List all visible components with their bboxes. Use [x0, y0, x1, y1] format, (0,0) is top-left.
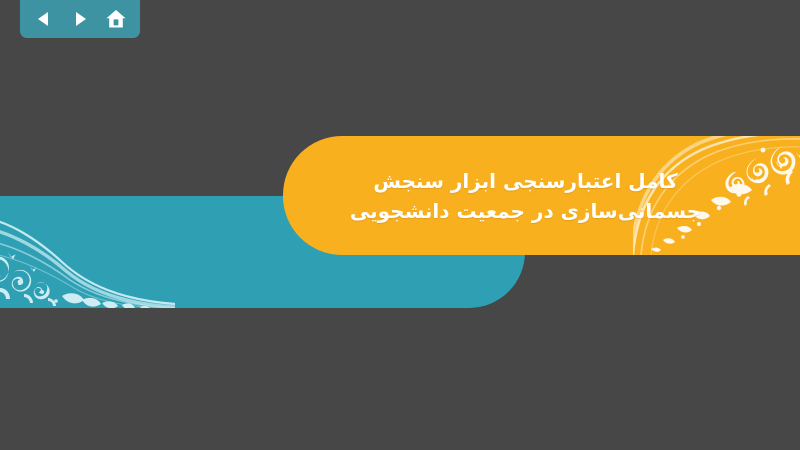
back-icon [34, 9, 54, 29]
forward-icon [70, 9, 90, 29]
navigation-bar [20, 0, 140, 38]
title-line-2: جسمانی‌سازی در جمعیت دانشجویی [350, 196, 701, 226]
title-line-1: کامل اعتبارسنجی ابزار سنجش [373, 166, 677, 196]
teal-arabesque-ornament-icon [0, 188, 175, 308]
forward-button[interactable] [67, 6, 93, 32]
back-button[interactable] [31, 6, 57, 32]
slide-canvas: کامل اعتبارسنجی ابزار سنجش جسمانی‌سازی د… [0, 0, 800, 450]
yellow-title-banner: کامل اعتبارسنجی ابزار سنجش جسمانی‌سازی د… [283, 136, 800, 255]
home-button[interactable] [103, 6, 129, 32]
home-icon [105, 8, 127, 30]
slide-title: کامل اعتبارسنجی ابزار سنجش جسمانی‌سازی د… [283, 136, 800, 255]
